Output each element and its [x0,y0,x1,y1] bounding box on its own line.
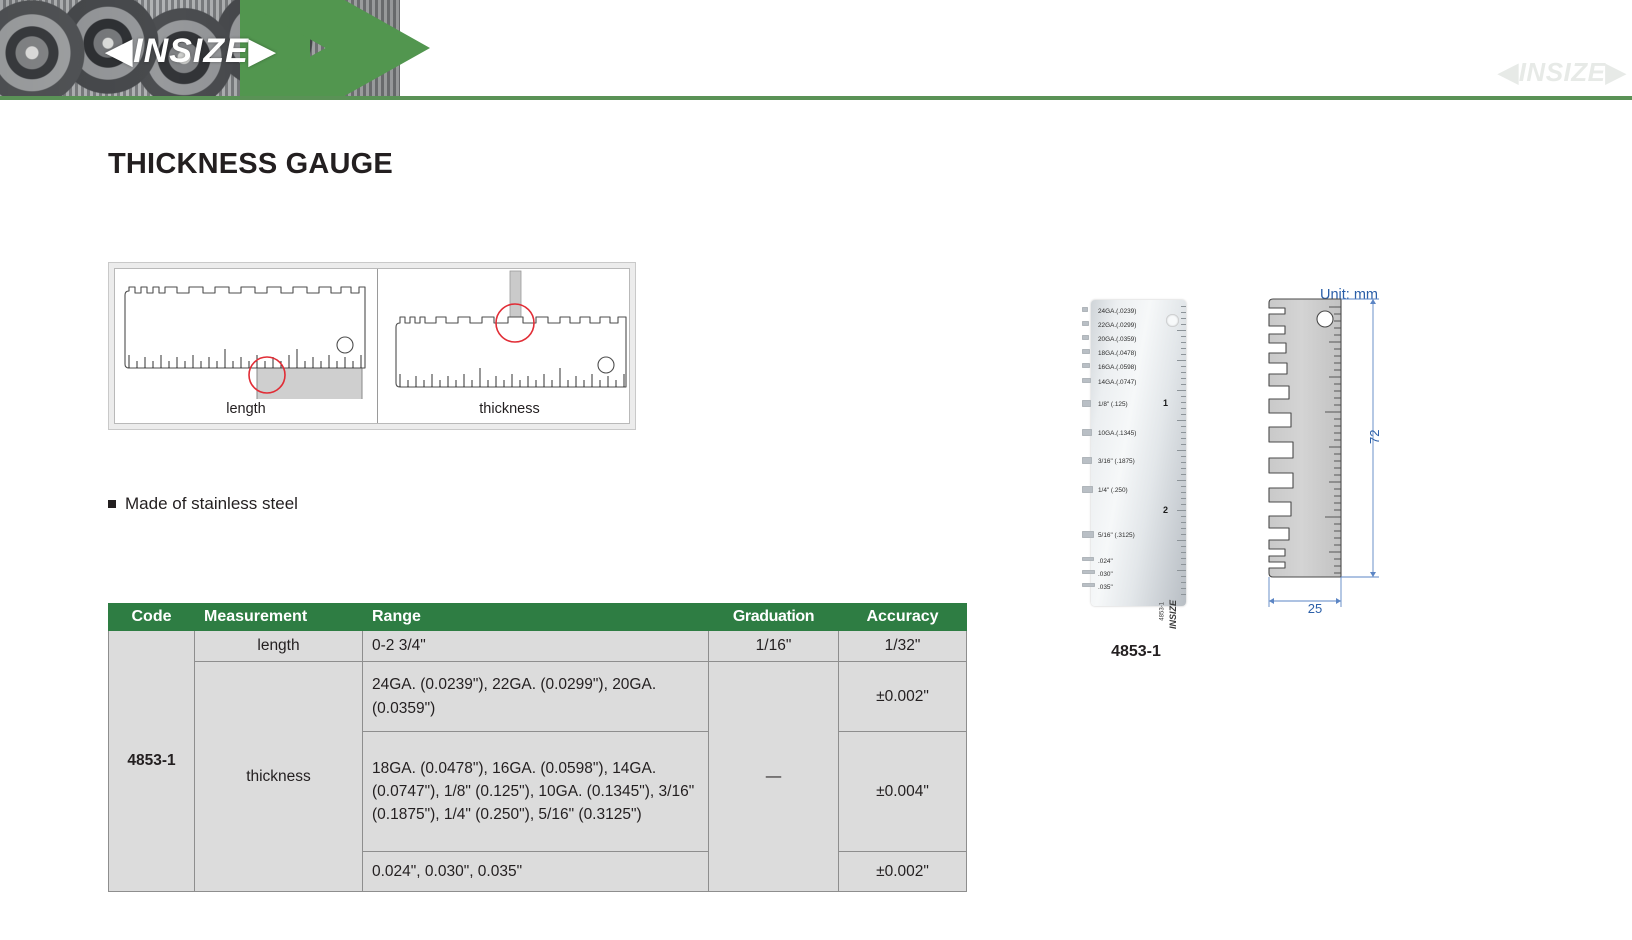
product-photo-label: .035" [1098,584,1113,591]
insize-watermark-text: INSIZE [1519,57,1606,87]
product-photo-ruler-tick [1177,510,1186,511]
table-row: thickness 24GA. (0.0239"), 22GA. (0.0299… [109,662,967,732]
product-photo-ruler-tick [1181,492,1186,493]
product-photo-ruler-tick [1177,390,1186,391]
product-photo-ruler-tick [1181,426,1186,427]
product-photo-label: 10GA.(.1345) [1098,430,1136,437]
product-photo-code-text: 4853-1 [1160,602,1166,621]
product-photo-notch [1082,321,1089,326]
product-photo-ruler-tick [1181,306,1186,307]
product-photo-label: 24GA.(.0239) [1098,308,1136,315]
cell-code: 4853-1 [109,631,195,892]
product-photo: INSIZE 4853-1 24GA.(.0239)22GA.(.0299)20… [1082,300,1186,606]
product-photo-label: 5/16" (.3125) [1098,532,1135,539]
product-photo-ruler-tick [1181,354,1186,355]
product-photo-notch [1082,363,1090,368]
product-photo-ruler-tick [1181,432,1186,433]
product-photo-ruler-tick [1181,384,1186,385]
product-photo-ruler-tick [1181,366,1186,367]
product-photo-notch [1082,349,1090,354]
specifications-table: Code Measurement Range Graduation Accura… [108,603,967,892]
product-photo-notch [1082,583,1095,587]
cell-range-thickness-3: 0.024", 0.030", 0.035" [363,852,709,892]
product-photo-hanging-hole [1166,314,1179,327]
product-photo-scale-number: 1 [1163,398,1168,408]
cell-graduation-length: 1/16" [709,631,839,662]
product-photo-brand-text: INSIZE [1168,600,1178,629]
page-title: THICKNESS GAUGE [108,148,393,181]
product-photo-ruler-tick [1181,378,1186,379]
product-photo-ruler-tick [1181,528,1186,529]
product-photo-label: 1/8" (.125) [1098,401,1128,408]
cell-range-length: 0-2 3/4" [363,631,709,662]
product-photo-ruler-tick [1181,474,1186,475]
product-photo-ruler-tick [1181,504,1186,505]
cell-accuracy-thickness-2: ±0.004" [839,732,967,852]
bullet-square-icon [108,500,116,508]
product-photo-label: .024" [1098,558,1113,565]
product-photo-label: 22GA.(.0299) [1098,322,1136,329]
product-photo-label: 1/4" (.250) [1098,487,1128,494]
technical-drawing [1245,285,1415,625]
product-photo-ruler-tick [1177,570,1186,571]
insize-logo: ◀INSIZE▶ [96,29,286,73]
product-photo-notch [1082,570,1095,574]
column-header-code: Code [109,604,195,631]
product-photo-ruler-tick [1181,594,1186,595]
product-photo-notch [1082,531,1094,538]
product-photo-ruler-tick [1177,420,1186,421]
feature-list-item: Made of stainless steel [108,494,298,514]
thickness-gauge-illustration [378,269,641,409]
cell-graduation-thickness: — [709,662,839,892]
column-header-accuracy: Accuracy [839,604,967,631]
cell-accuracy-thickness-1: ±0.002" [839,662,967,732]
product-photo-ruler-tick [1181,498,1186,499]
product-photo-ruler-tick [1181,408,1186,409]
product-photo-ruler-tick [1181,486,1186,487]
page-header: ◀INSIZE▶ ◀INSIZE▶ [0,0,1632,100]
product-photo-ruler-tick [1181,522,1186,523]
product-photo-label: 20GA.(.0359) [1098,336,1136,343]
product-photo-ruler-tick [1181,588,1186,589]
panel-label-thickness: thickness [378,401,641,417]
product-photo-ruler-tick [1181,576,1186,577]
product-photo-ruler-tick [1177,480,1186,481]
product-photo-scale-number: 2 [1163,505,1168,515]
product-photo-notch [1082,335,1089,340]
product-photo-notch [1082,378,1091,383]
product-photo-ruler-tick [1181,462,1186,463]
panel-label-length: length [115,401,377,417]
product-photo-ruler-tick [1181,336,1186,337]
diagram-panel-thickness: thickness [378,269,641,423]
product-photo-ruler-tick [1177,360,1186,361]
product-photo-ruler-tick [1181,324,1186,325]
product-photo-ruler-tick [1181,582,1186,583]
header-green-rule [0,96,1632,100]
product-photo-ruler-tick [1181,516,1186,517]
product-photo-label: 3/16" (.1875) [1098,458,1135,465]
cell-measurement-thickness: thickness [195,662,363,892]
column-header-graduation: Graduation [709,604,839,631]
product-photo-ruler-tick [1181,414,1186,415]
product-photo-ruler-tick [1181,348,1186,349]
cell-accuracy-thickness-3: ±0.002" [839,852,967,892]
product-photo-notch [1082,486,1093,493]
technical-drawing-svg [1245,285,1415,625]
product-photo-label: 16GA.(.0598) [1098,364,1136,371]
feature-text: Made of stainless steel [125,494,298,514]
cell-accuracy-length: 1/32" [839,631,967,662]
product-photo-ruler-tick [1181,558,1186,559]
length-gauge-illustration [115,269,377,399]
insize-logo-watermark: ◀INSIZE▶ [1446,55,1626,89]
product-photo-ruler-tick [1177,450,1186,451]
product-photo-ruler-tick [1181,396,1186,397]
cell-measurement-length: length [195,631,363,662]
insize-logo-text: INSIZE [133,32,249,70]
table-header-row: Code Measurement Range Graduation Accura… [109,604,967,631]
product-photo-ruler-tick [1181,468,1186,469]
column-header-range: Range [363,604,709,631]
product-photo-ruler-tick [1181,402,1186,403]
product-photo-notch [1082,400,1091,407]
column-header-measurement: Measurement [195,604,363,631]
dimension-width-label: 25 [1290,601,1340,616]
product-photo-ruler-tick [1181,372,1186,373]
product-photo-ruler-tick [1181,312,1186,313]
cell-range-thickness-1: 24GA. (0.0239"), 22GA. (0.0299"), 20GA. … [363,662,709,732]
diagram-panel-length: length [115,269,377,423]
product-photo-ruler-tick [1181,552,1186,553]
product-photo-notch [1082,307,1088,312]
product-photo-label: 18GA.(.0478) [1098,350,1136,357]
cell-range-thickness-2: 18GA. (0.0478"), 16GA. (0.0598"), 14GA. … [363,732,709,852]
product-photo-ruler-tick [1181,444,1186,445]
product-photo-label: 14GA.(.0747) [1098,379,1136,386]
product-photo-ruler-tick [1177,330,1186,331]
product-photo-ruler-tick [1177,540,1186,541]
table-row: 4853-1 length 0-2 3/4" 1/16" 1/32" [109,631,967,662]
product-photo-ruler-tick [1181,438,1186,439]
product-photo-notch [1082,429,1092,436]
product-caption: 4853-1 [1036,643,1236,661]
product-photo-ruler-tick [1181,534,1186,535]
product-photo-notch [1082,557,1094,561]
product-photo-label: .030" [1098,571,1113,578]
product-photo-notch [1082,457,1092,464]
product-photo-ruler-tick [1181,564,1186,565]
product-photo-ruler-tick [1181,456,1186,457]
product-photo-ruler-tick [1181,546,1186,547]
product-photo-ruler-tick [1181,318,1186,319]
usage-diagram: length [108,262,636,430]
product-photo-ruler-tick [1181,342,1186,343]
dimension-height-label: 72 [1367,430,1382,444]
